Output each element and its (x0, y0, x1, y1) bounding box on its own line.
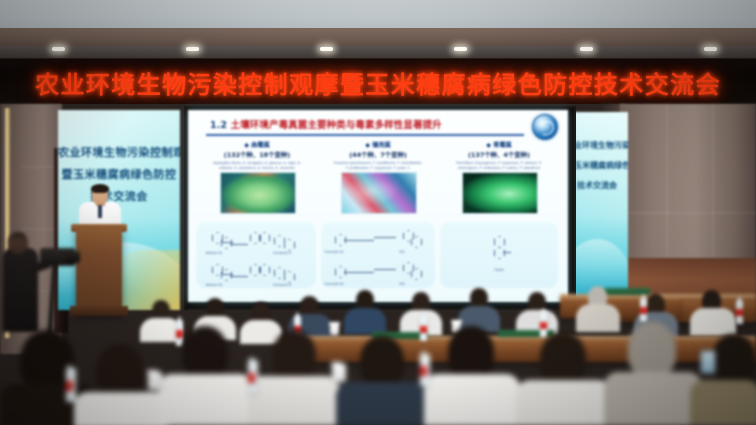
attendee-head (360, 336, 404, 388)
slide-title: 1.2 土壤环境产毒真菌主要种类与毒素多样性显著提升 (210, 117, 510, 131)
species-counts: (137个种、4个变种) (440, 150, 558, 159)
slide-column-fusarium: ◆ 镰孢属 (44个种、7个变种) Fusarium graminearum, … (319, 140, 437, 176)
attendee-shoulders (604, 372, 702, 425)
backdrop-title-line-3: 技术交流会 (58, 188, 180, 204)
slide-title-number: 1.2 (210, 120, 227, 131)
videographer-torso (2, 248, 38, 332)
led-banner: 农业环境生物污染控制观摩暨玉米穗腐病绿色防控技术交流会 (0, 58, 756, 106)
water-bottle (540, 312, 547, 337)
bullet-icon: ◆ (365, 142, 370, 149)
presenter-tie (98, 205, 102, 218)
ceiling-downlight (704, 47, 717, 51)
column-bullet-and-genus: ◆ 曲霉属 (198, 140, 316, 149)
camera-lens-icon (66, 251, 80, 263)
slide-title-text: 土壤环境产毒真菌主要种类与毒素多样性显著提升 (231, 120, 442, 131)
species-counts: (44个种、7个变种) (319, 150, 437, 159)
chem-structure-box-fumonisins: Fumonisin B1 FB1 Fumonisin B2 FB2 (321, 222, 435, 288)
presentation-slide: 1.2 土壤环境产毒真菌主要种类与毒素多样性显著提升 ◆ 曲霉属 (132个种、… (188, 110, 568, 302)
attendee-shoulders-white-shirt (424, 374, 520, 425)
tea-cup (148, 372, 162, 390)
ceiling-soffit (0, 28, 756, 48)
water-bottle (66, 368, 76, 402)
ceiling (0, 0, 756, 30)
attendee-shoulders-white-shirt (158, 374, 254, 425)
wooden-lectern (76, 228, 122, 314)
genus-name: 镰孢属 (372, 142, 391, 149)
attendee-shoulders-white-shirt (516, 380, 612, 425)
backdrop-title-line-2: 暨玉米穗腐病绿色防控 (58, 166, 180, 182)
tea-cup (332, 364, 346, 382)
attendee-head-grey-hair (628, 322, 676, 378)
water-bottle (420, 316, 427, 341)
penicillium-brush-micrograph (462, 172, 538, 214)
backdrop-title-line-1: 农业环境生物污染控制观摩 (58, 144, 180, 160)
ceiling-downlight (454, 47, 467, 51)
water-bottle (248, 360, 258, 394)
chem-caption: Patulin (440, 268, 558, 272)
bullet-icon: ◆ (486, 142, 491, 149)
species-counts: (132个种、18个变种) (198, 150, 316, 159)
tea-cup (330, 324, 339, 335)
genus-name: 青霉属 (493, 142, 512, 149)
university-emblem-icon (532, 114, 558, 140)
attendee-head (182, 326, 228, 380)
latin-species-list: Penicillium chrysogenum, P. expansum, P.… (440, 161, 558, 171)
ceiling-downlight (186, 47, 199, 51)
led-banner-text: 农业环境生物污染控制观摩暨玉米穗腐病绿色防控技术交流会 (0, 59, 756, 105)
attendee-shoulders (336, 382, 428, 425)
attendee-shoulders (690, 308, 736, 336)
videographer-head (8, 232, 28, 254)
ceiling-downlight (320, 47, 333, 51)
column-bullet-and-genus: ◆ 青霉属 (440, 140, 558, 149)
ceiling-downlight (52, 47, 65, 51)
latin-species-list: Aspergillus flavus, A. fumigatus, A. gla… (198, 161, 316, 171)
water-bottle (420, 354, 430, 386)
attendee-shoulders-white-shirt (248, 376, 340, 425)
water-bottle (640, 298, 647, 322)
column-bullet-and-genus: ◆ 镰孢属 (319, 140, 437, 149)
attendee-head (540, 332, 586, 386)
water-bottle (176, 320, 183, 346)
attendee-head (448, 326, 494, 380)
attendee-head (272, 330, 316, 382)
conference-hall-photo: 农业环境生物污染控制观摩暨玉米穗腐病绿色防控技术交流会 农业环境生物污染控制观摩… (0, 0, 756, 425)
attendee-shoulders (690, 380, 756, 425)
slide-column-aspergillus: ◆ 曲霉属 (132个种、18个变种) Aspergillus flavus, … (198, 140, 316, 171)
slide-title-underline (206, 134, 524, 136)
bullet-icon: ◆ (244, 142, 249, 149)
attendee-shoulders-white-shirt (74, 392, 168, 425)
aspergillus-conidiophore-micrograph (220, 172, 296, 214)
slide-column-penicillium: ◆ 青霉属 (137个种、4个变种) Penicillium chrysogen… (440, 140, 558, 171)
genus-name: 曲霉属 (251, 142, 270, 149)
attendee-head (712, 334, 756, 386)
fusarium-macroconidia-micrograph (341, 172, 417, 214)
attendee-taking-phone-photo (700, 350, 716, 374)
chem-structure-box-patulin: Patulin (440, 222, 558, 288)
attendee-shoulders (344, 308, 386, 334)
chem-structure-box-aflatoxins: Aflatoxin B1 Ochratoxin A Aflatoxin B2 O… (196, 222, 316, 288)
attendee-shoulders (576, 304, 620, 332)
projection-screen: 1.2 土壤环境产毒真菌主要种类与毒素多样性显著提升 ◆ 曲霉属 (132个种、… (188, 110, 568, 302)
presenter-hair (91, 184, 109, 193)
lectern-base (70, 306, 128, 316)
ceiling-downlight (580, 47, 593, 51)
water-bottle (736, 300, 743, 324)
ceiling-shadow-band (0, 46, 756, 58)
